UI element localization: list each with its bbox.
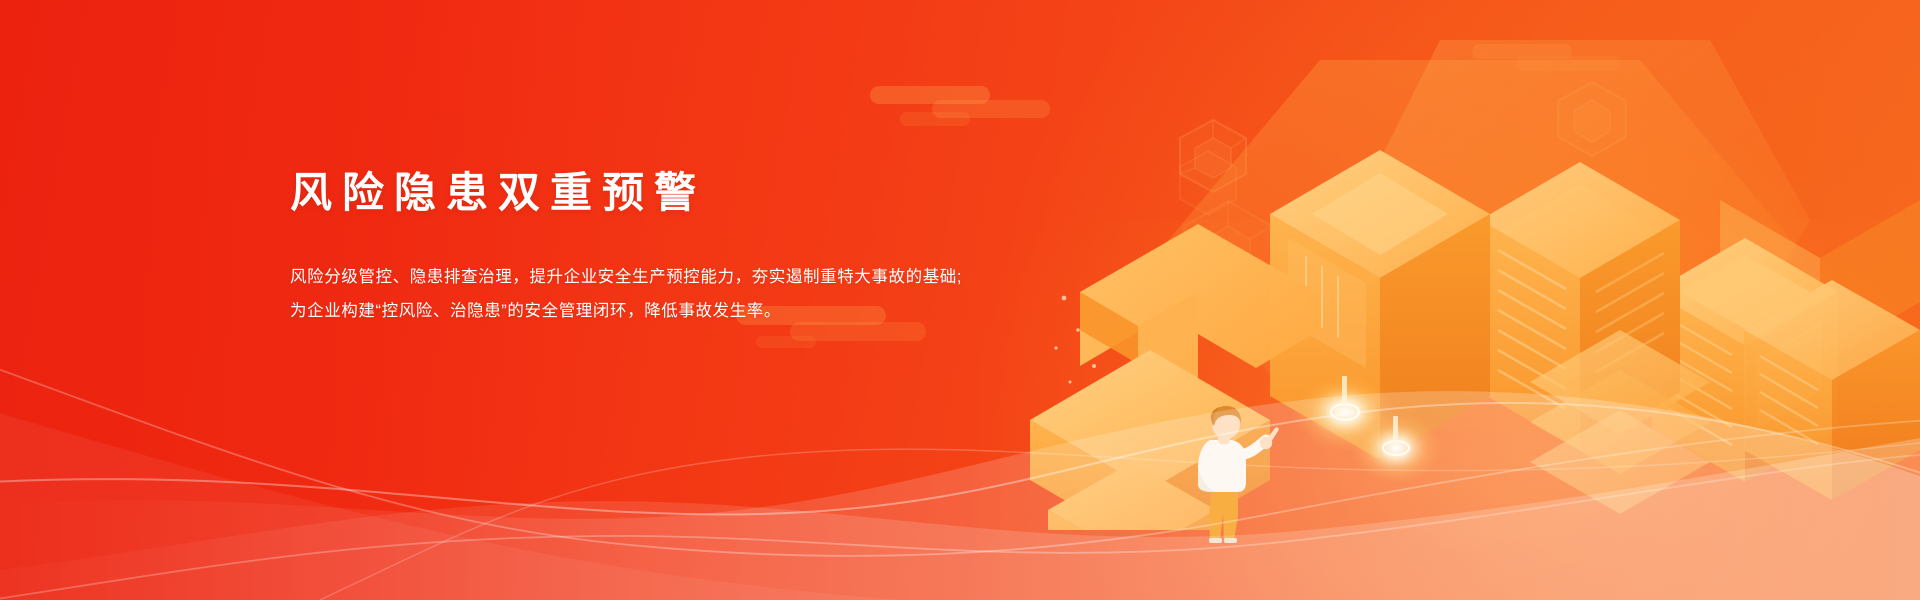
hero-subtitle-line-2: 为企业构建“控风险、治隐患”的安全管理闭环，降低事故发生率。 xyxy=(290,294,1050,328)
background-glow-right xyxy=(1000,0,1920,600)
wireframe-hexagon-icon xyxy=(1176,116,1250,196)
background-glow-bottom-right xyxy=(980,220,1920,600)
wireframe-cube-icon xyxy=(1176,148,1240,218)
glow-beacon-icon xyxy=(1350,412,1442,484)
hero-banner: 风险隐患双重预警 风险分级管控、隐患排查治理，提升企业安全生产预控能力，夯实遏制… xyxy=(0,0,1920,600)
wireframe-hexagon-icon xyxy=(1554,78,1630,160)
wireframe-cube-icon xyxy=(1178,196,1278,306)
cloud-shape-icon xyxy=(1472,44,1622,78)
page-title: 风险隐患双重预警 xyxy=(290,170,1050,216)
cloud-shape-icon xyxy=(870,86,1050,126)
hero-subtitle-line-1: 风险分级管控、隐患排查治理，提升企业安全生产预控能力，夯实遏制重特大事故的基础; xyxy=(290,260,1050,294)
hero-copy: 风险隐患双重预警 风险分级管控、隐患排查治理，提升企业安全生产预控能力，夯实遏制… xyxy=(290,170,1050,328)
glow-beacon-icon xyxy=(1293,372,1397,452)
hero-subtitle: 风险分级管控、隐患排查治理，提升企业安全生产预控能力，夯实遏制重特大事故的基础;… xyxy=(290,260,1050,328)
standing-person-illustration xyxy=(1176,404,1286,544)
sparkle-specks xyxy=(1054,296,1096,384)
isometric-illustration xyxy=(1020,30,1920,530)
